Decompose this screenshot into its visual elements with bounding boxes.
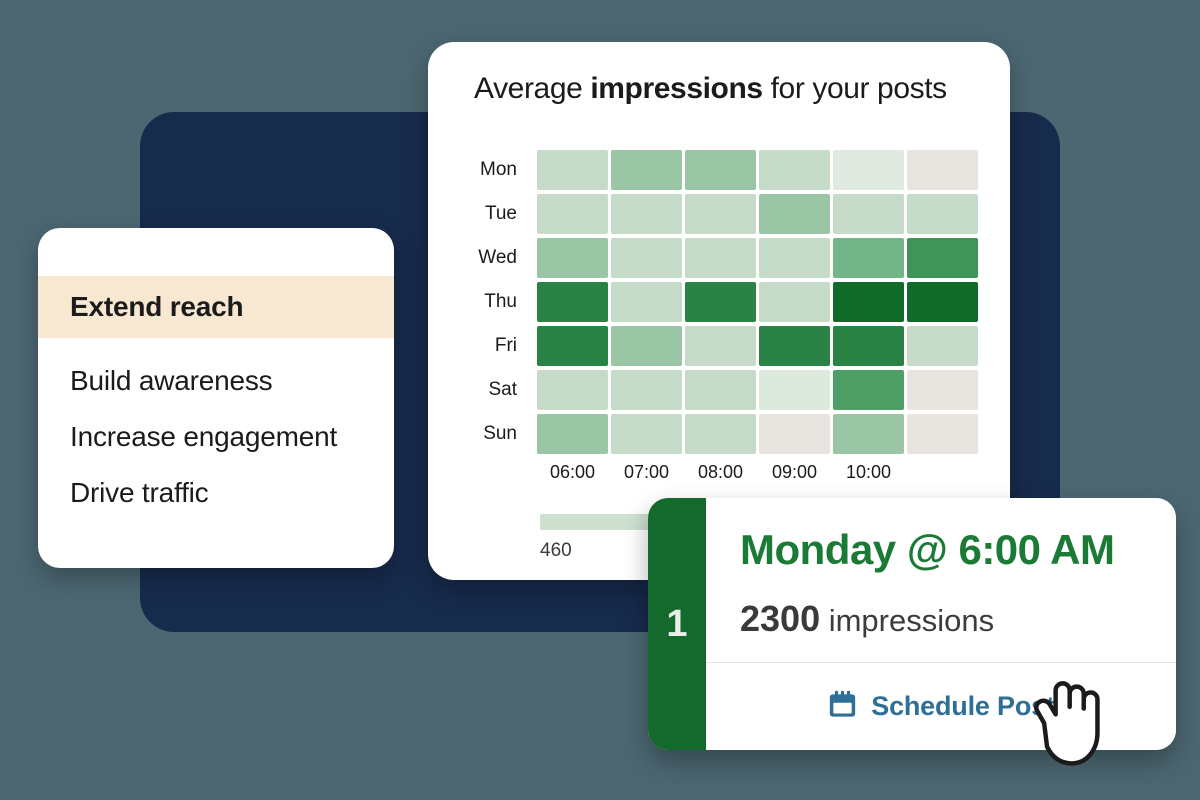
- schedule-post-button[interactable]: Schedule Post: [706, 663, 1176, 750]
- heatmap-cell-sun-0[interactable]: [537, 414, 608, 454]
- heatmap-row: Sat: [428, 368, 1010, 411]
- heatmap-row-cells: [537, 238, 978, 278]
- heatmap-cell-thu-3[interactable]: [759, 282, 830, 322]
- heatmap-row-label: Sun: [428, 423, 537, 445]
- heatmap-row-cells: [537, 194, 978, 234]
- title-part-lead: Average: [474, 72, 590, 105]
- heatmap-cell-fri-1[interactable]: [611, 326, 682, 366]
- heatmap-cell-fri-5[interactable]: [907, 326, 978, 366]
- heatmap-cell-wed-4[interactable]: [833, 238, 904, 278]
- heatmap-cell-mon-0[interactable]: [537, 150, 608, 190]
- heatmap-row-cells: [537, 326, 978, 366]
- heatmap-cell-tue-4[interactable]: [833, 194, 904, 234]
- heatmap-cell-thu-1[interactable]: [611, 282, 682, 322]
- promo-composition: Average impressions for your posts MonTu…: [0, 0, 1200, 800]
- heatmap-cell-fri-4[interactable]: [833, 326, 904, 366]
- heatmap-row: Wed: [428, 236, 1010, 279]
- heatmap-cell-wed-2[interactable]: [685, 238, 756, 278]
- impressions-heatmap[interactable]: MonTueWedThuFriSatSun: [428, 148, 1010, 456]
- heatmap-cell-sun-4[interactable]: [833, 414, 904, 454]
- heatmap-cell-mon-5[interactable]: [907, 150, 978, 190]
- heatmap-cell-mon-4[interactable]: [833, 150, 904, 190]
- heatmap-cell-sat-1[interactable]: [611, 370, 682, 410]
- page-title: Average impressions for your posts: [474, 72, 947, 106]
- goal-menu-item-1[interactable]: Build awareness: [38, 353, 394, 409]
- heatmap-cell-sat-4[interactable]: [833, 370, 904, 410]
- heatmap-cell-sun-5[interactable]: [907, 414, 978, 454]
- impressions-value: 2300: [740, 598, 820, 639]
- heatmap-cell-wed-1[interactable]: [611, 238, 682, 278]
- heatmap-cell-fri-3[interactable]: [759, 326, 830, 366]
- heatmap-cell-tue-2[interactable]: [685, 194, 756, 234]
- heatmap-row: Mon: [428, 148, 1010, 191]
- heatmap-row: Thu: [428, 280, 1010, 323]
- heatmap-row-label: Fri: [428, 335, 537, 357]
- heatmap-cell-thu-5[interactable]: [907, 282, 978, 322]
- x-tick-4: 10:00: [833, 462, 904, 483]
- goal-menu-card: Extend reachBuild awarenessIncrease enga…: [38, 228, 394, 568]
- slot-detail-tooltip: 1 Monday @ 6:00 AM 2300 impressions Sche…: [648, 498, 1176, 750]
- heatmap-row-label: Tue: [428, 203, 537, 225]
- heatmap-cell-sat-2[interactable]: [685, 370, 756, 410]
- x-tick-1: 07:00: [611, 462, 682, 483]
- heatmap-cell-mon-1[interactable]: [611, 150, 682, 190]
- heatmap-cell-fri-0[interactable]: [537, 326, 608, 366]
- x-tick-0: 06:00: [537, 462, 608, 483]
- heatmap-cell-tue-0[interactable]: [537, 194, 608, 234]
- heatmap-cell-tue-3[interactable]: [759, 194, 830, 234]
- schedule-post-label: Schedule Post: [871, 691, 1054, 722]
- heatmap-row: Fri: [428, 324, 1010, 367]
- tooltip-body: Monday @ 6:00 AM 2300 impressions Schedu…: [706, 498, 1176, 750]
- x-tick-3: 09:00: [759, 462, 830, 483]
- heatmap-row-cells: [537, 282, 978, 322]
- heatmap-row: Sun: [428, 412, 1010, 455]
- heatmap-cell-fri-2[interactable]: [685, 326, 756, 366]
- heatmap-cell-sun-2[interactable]: [685, 414, 756, 454]
- calendar-icon: [827, 689, 858, 725]
- heatmap-row-label: Wed: [428, 247, 537, 269]
- rank-badge: 1: [648, 498, 706, 750]
- heatmap-cell-wed-0[interactable]: [537, 238, 608, 278]
- goal-menu-item-3[interactable]: Drive traffic: [38, 465, 394, 521]
- heatmap-cell-thu-4[interactable]: [833, 282, 904, 322]
- heatmap-cell-tue-5[interactable]: [907, 194, 978, 234]
- heatmap-cell-mon-3[interactable]: [759, 150, 830, 190]
- heatmap-row-cells: [537, 150, 978, 190]
- goal-menu-item-2[interactable]: Increase engagement: [38, 409, 394, 465]
- heatmap-row-cells: [537, 370, 978, 410]
- heatmap-cell-wed-5[interactable]: [907, 238, 978, 278]
- heatmap-row-label: Mon: [428, 159, 537, 181]
- goal-menu-item-0[interactable]: Extend reach: [38, 276, 394, 338]
- heatmap-cell-sat-3[interactable]: [759, 370, 830, 410]
- heatmap-cell-thu-2[interactable]: [685, 282, 756, 322]
- goal-menu-list: Extend reachBuild awarenessIncrease enga…: [38, 276, 394, 521]
- heatmap-row: Tue: [428, 192, 1010, 235]
- heatmap-row-cells: [537, 414, 978, 454]
- title-part-bold: impressions: [590, 72, 762, 105]
- impressions-metric: 2300 impressions: [740, 598, 994, 640]
- heatmap-cell-wed-3[interactable]: [759, 238, 830, 278]
- x-tick-2: 08:00: [685, 462, 756, 483]
- heatmap-cell-thu-0[interactable]: [537, 282, 608, 322]
- heatmap-cell-mon-2[interactable]: [685, 150, 756, 190]
- menu-spacer: [38, 338, 394, 353]
- title-part-tail: for your posts: [763, 72, 947, 105]
- heatmap-cell-sun-3[interactable]: [759, 414, 830, 454]
- heatmap-cell-tue-1[interactable]: [611, 194, 682, 234]
- heatmap-x-axis: 06:0007:0008:0009:0010:00: [537, 462, 904, 483]
- legend-min-label: 460: [540, 540, 572, 562]
- heatmap-cell-sat-0[interactable]: [537, 370, 608, 410]
- heatmap-row-label: Thu: [428, 291, 537, 313]
- slot-datetime: Monday @ 6:00 AM: [740, 526, 1114, 574]
- heatmap-cell-sat-5[interactable]: [907, 370, 978, 410]
- heatmap-cell-sun-1[interactable]: [611, 414, 682, 454]
- heatmap-row-label: Sat: [428, 379, 537, 401]
- impressions-unit: impressions: [820, 603, 994, 638]
